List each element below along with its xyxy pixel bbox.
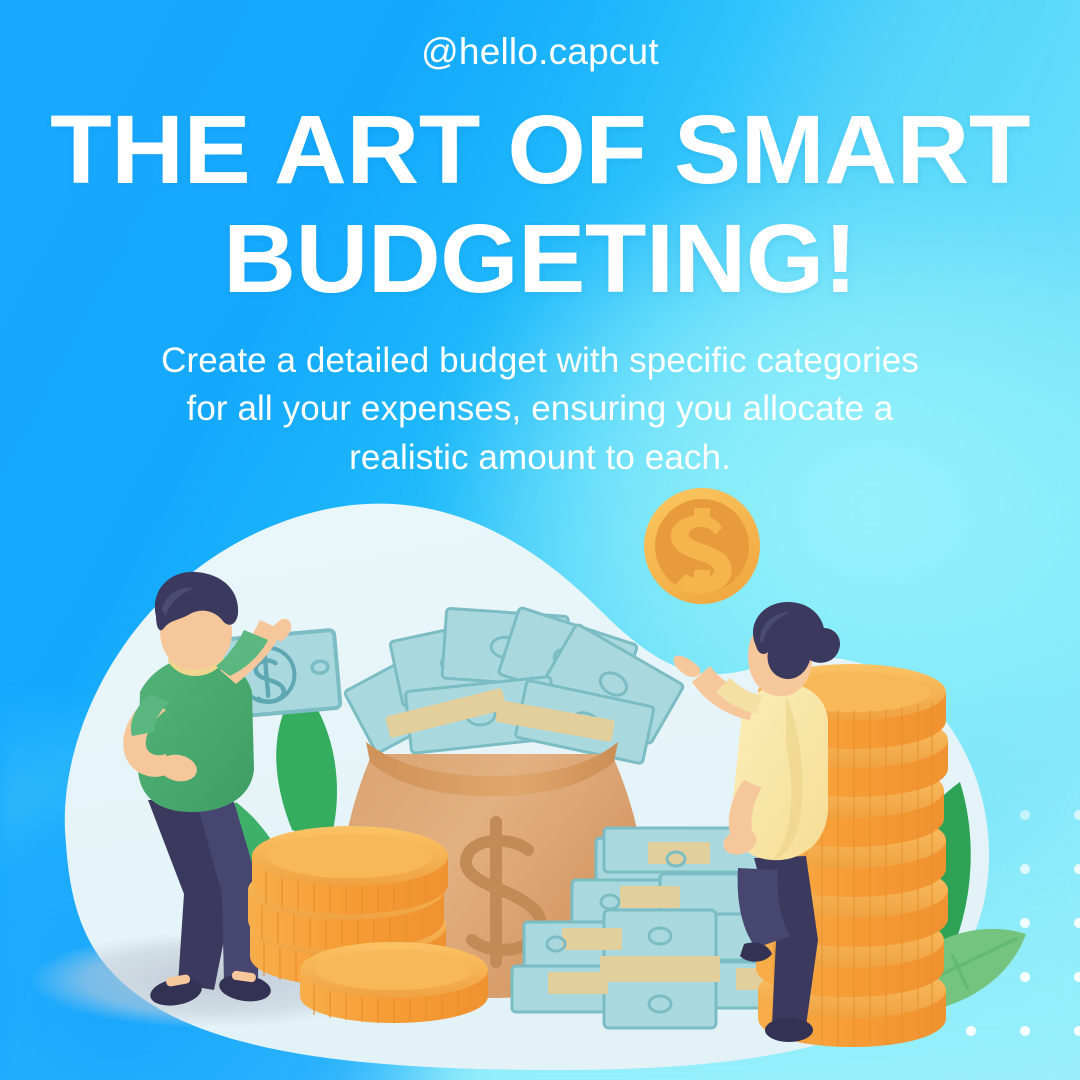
title-line-2: BUDGETING! bbox=[37, 205, 1044, 314]
coin-flat bbox=[300, 942, 488, 1023]
gold-coin bbox=[644, 488, 760, 604]
illustration-container bbox=[0, 470, 1080, 1080]
page-title: THE ART OF SMART BUDGETING! bbox=[37, 96, 1044, 313]
account-handle: @hello.capcut bbox=[0, 31, 1080, 73]
subtitle-text: Create a detailed budget with specific c… bbox=[140, 337, 940, 482]
poster-canvas: @hello.capcut THE ART OF SMART BUDGETING… bbox=[0, 0, 1080, 1080]
title-line-1: THE ART OF SMART bbox=[37, 96, 1044, 205]
